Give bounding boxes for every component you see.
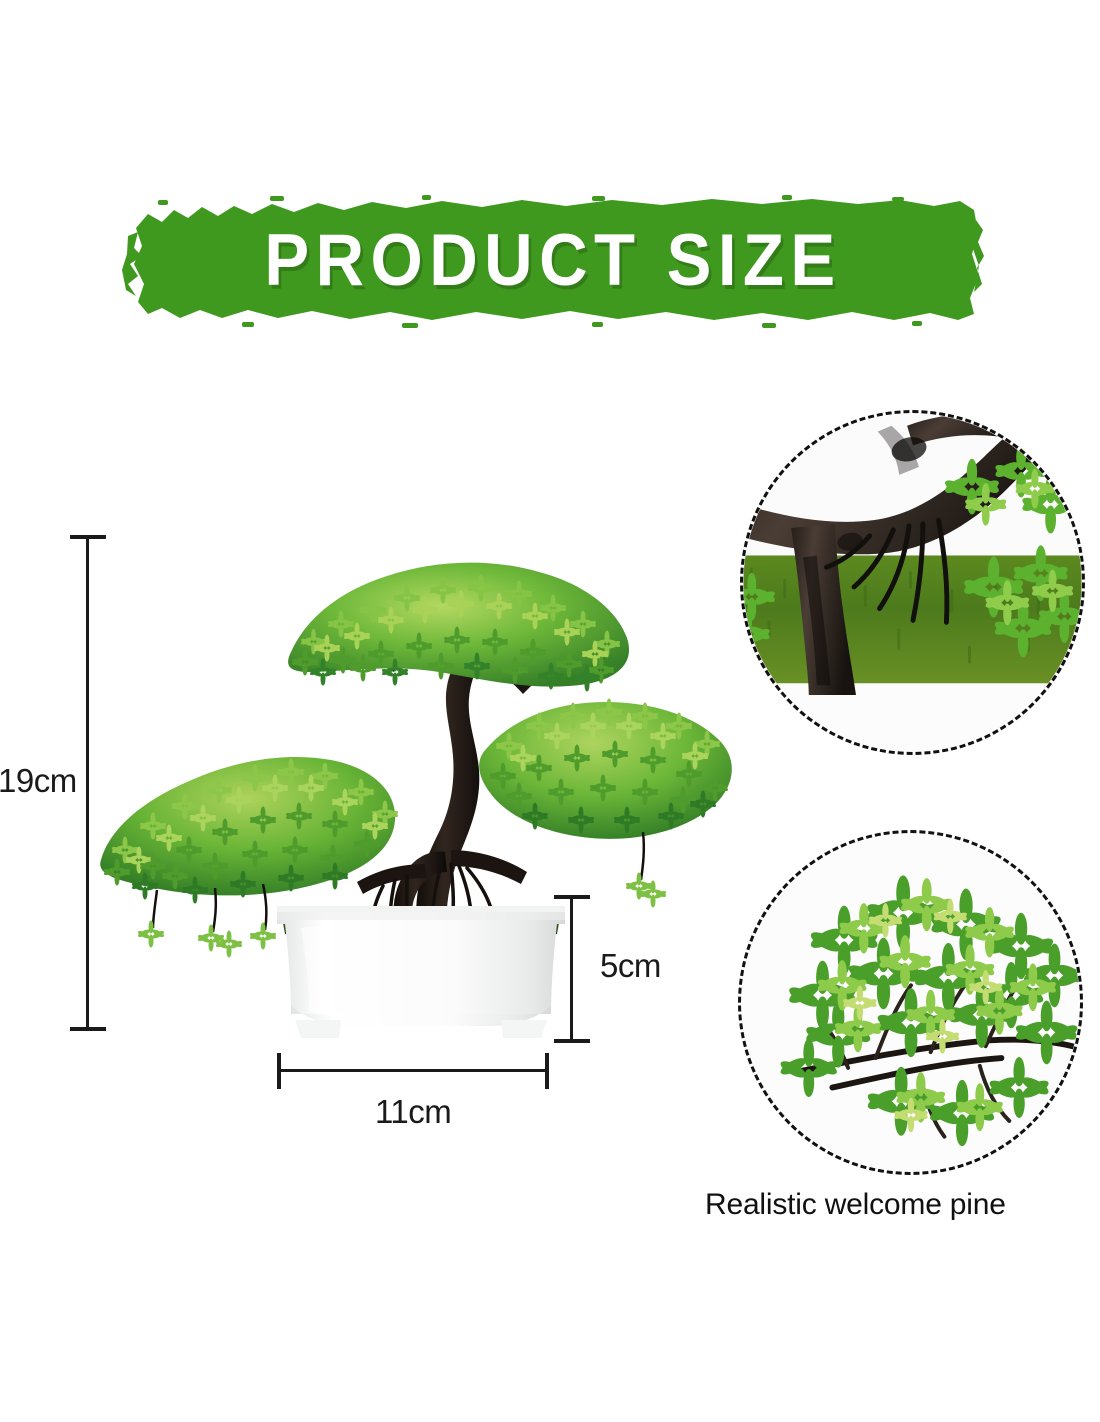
trunk-closeup-illustration [740, 410, 1085, 755]
dimension-label-pot-height: 5cm [600, 947, 661, 985]
product-size-banner: PRODUCT SIZE [122, 192, 984, 328]
dim-line-horizontal [277, 1069, 549, 1072]
inset-foliage-detail [738, 830, 1083, 1175]
dim-cap-bottom [554, 1039, 590, 1043]
dim-cap-right [545, 1053, 549, 1089]
dimension-pot-height-5cm: 5cm [552, 885, 672, 1060]
foliage-closeup-illustration [738, 830, 1083, 1175]
dimension-pot-width-11cm: 11cm [265, 1045, 585, 1135]
banner-title: PRODUCT SIZE [156, 192, 949, 332]
dim-line-vertical [86, 535, 89, 1031]
dimension-label-height: 19cm [0, 762, 77, 800]
dim-line-vertical [570, 895, 573, 1043]
inset-caption-text: Realistic welcome pine [705, 1188, 1085, 1222]
inset-trunk-detail [740, 410, 1085, 755]
foliage-canopy-top [288, 563, 629, 692]
infographic-canvas: PRODUCT SIZE 19cm [0, 0, 1100, 1422]
pot-group [277, 906, 565, 1038]
dimension-label-pot-width: 11cm [375, 1093, 451, 1131]
